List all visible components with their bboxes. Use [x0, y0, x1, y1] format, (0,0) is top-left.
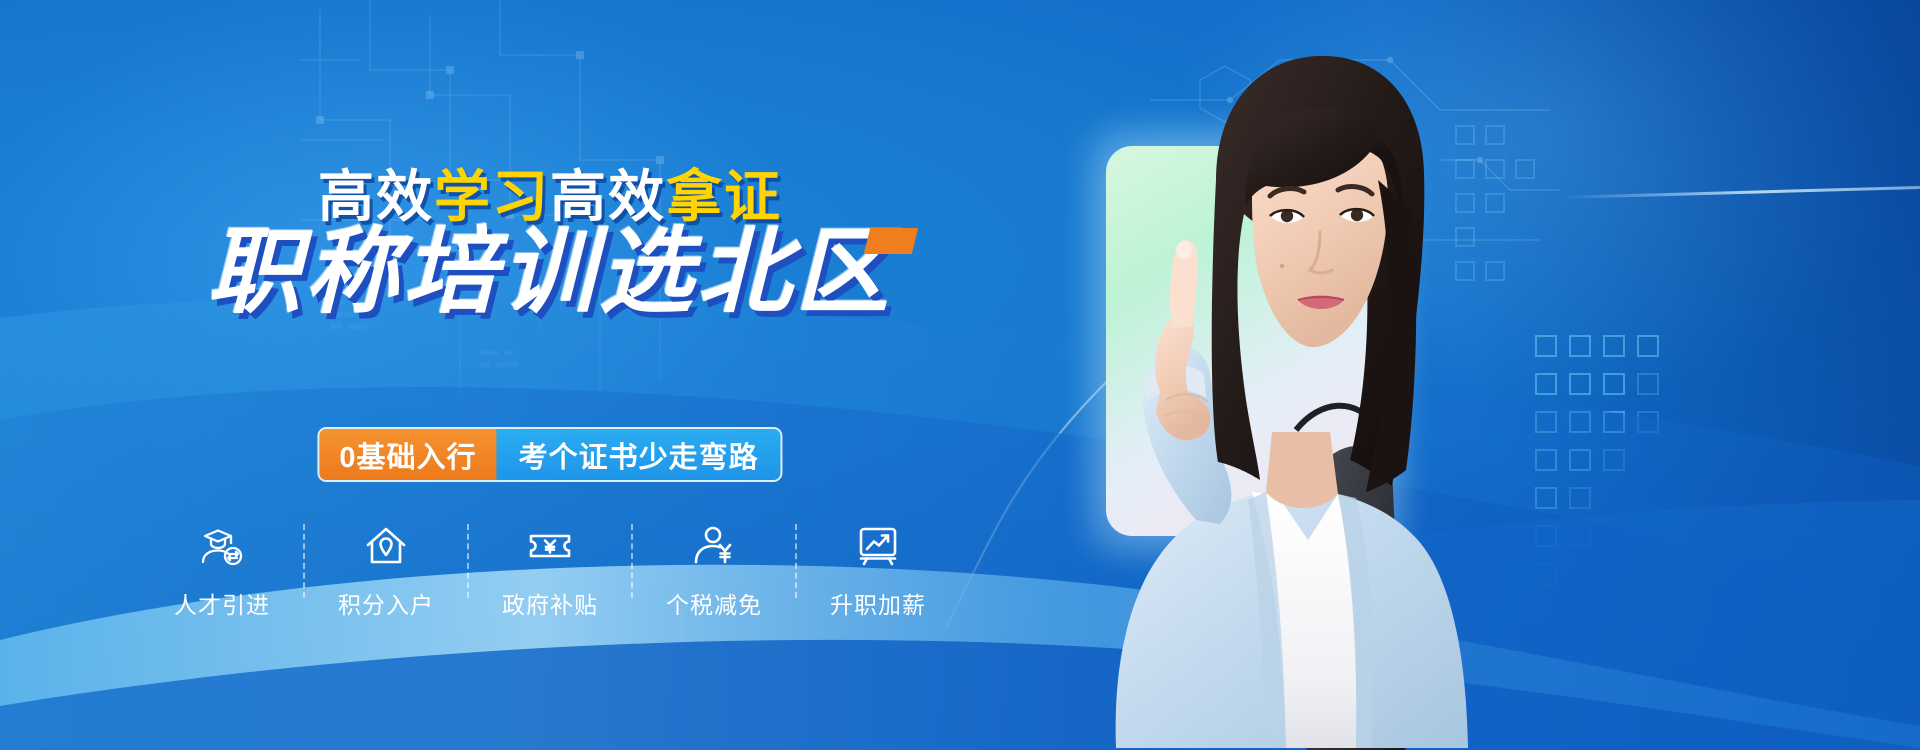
- feature-label: 人才引进: [174, 586, 270, 620]
- person-yuan-icon: [691, 522, 737, 570]
- feature-item-talent[interactable]: 人才引进: [155, 522, 289, 620]
- feature-item-tax[interactable]: 个税减免: [647, 522, 781, 620]
- woman-pointing-illustration: [1020, 0, 1920, 750]
- feature-divider: [467, 524, 469, 598]
- orange-accent-mark: [864, 228, 918, 254]
- graduate-person-icon: [199, 522, 245, 570]
- feature-divider: [303, 524, 305, 598]
- copy-block: 高效学习高效拿证 职称培训选北区 0基础入行 考个证书少走弯路: [0, 0, 1100, 750]
- tagline-badge[interactable]: 0基础入行 考个证书少走弯路: [317, 427, 782, 482]
- main-headline: 职称培训选北区: [207, 222, 893, 322]
- feature-divider: [631, 524, 633, 598]
- feature-divider: [795, 524, 797, 598]
- chart-board-icon: [855, 522, 901, 570]
- feature-list: 人才引进 积分入户: [155, 522, 945, 620]
- promo-banner: 2 39: [0, 0, 1920, 750]
- feature-label: 积分入户: [338, 586, 434, 620]
- feature-label: 升职加薪: [830, 586, 926, 620]
- feature-item-subsidy[interactable]: 政府补贴: [483, 522, 617, 620]
- badge-left-label: 0基础入行: [319, 429, 496, 480]
- house-pin-icon: [363, 522, 409, 570]
- voucher-yuan-icon: [526, 522, 574, 570]
- headline-wrapper: 职称培训选北区: [0, 222, 1100, 322]
- person-photo-region: [1020, 0, 1920, 750]
- feature-item-promotion[interactable]: 升职加薪: [811, 522, 945, 620]
- main-headline-text: 职称培训选北区: [207, 219, 893, 324]
- feature-label: 个税减免: [666, 586, 762, 620]
- badge-right-label: 考个证书少走弯路: [497, 429, 781, 480]
- feature-label: 政府补贴: [502, 586, 598, 620]
- feature-item-household[interactable]: 积分入户: [319, 522, 453, 620]
